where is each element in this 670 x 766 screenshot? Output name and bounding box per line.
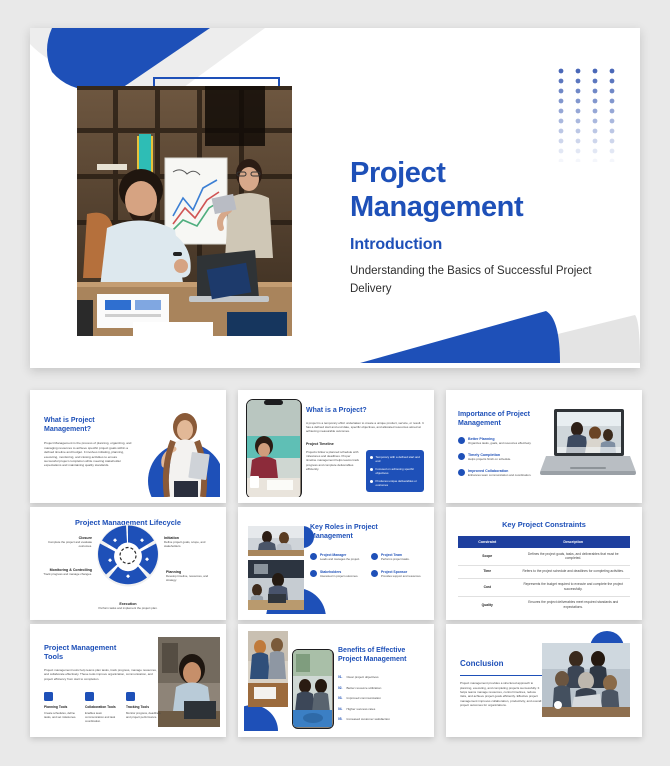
thumb4-phase-1-desc: Develop timeline, resources, and strateg… [166, 574, 218, 582]
cell-constraint: Quality [458, 596, 516, 614]
col-constraint: Constraint [458, 536, 516, 548]
slide-thumb-what-is-a-project[interactable]: What is a Project? A project is a tempor… [238, 390, 434, 503]
bullet-dot-icon [370, 456, 373, 459]
cell-description: Defines the project goals, tasks, and de… [516, 548, 630, 565]
cell-description: Represents the budget required to execut… [516, 578, 630, 596]
role-icon [371, 570, 378, 577]
thumb8-benefit-1-text: Better resource utilization [346, 686, 381, 690]
slide-thumb-lifecycle[interactable]: Project Management Lifecycle [30, 507, 226, 620]
thumb9-title: Conclusion [460, 659, 542, 669]
thumb5-role-3-desc: Provides support and resources. [381, 574, 421, 578]
check-circle-icon [458, 469, 465, 476]
thumb2-bullet-2: Produces unique deliverables or outcomes [376, 479, 420, 487]
bullet-dot-icon [370, 480, 373, 483]
lifecycle-diagram: ◆◆ ◆◆◆ [94, 522, 162, 595]
dot-grid-decoration [556, 66, 618, 167]
table-row: QualityEnsures the project deliverables … [458, 596, 630, 614]
thumb2-section-label: Project Timeline [306, 442, 424, 446]
thumb3-item-1-desc: Helps projects finish on schedule. [468, 457, 511, 461]
thumb7-tool-1-label: Collaboration Tools [85, 705, 121, 709]
thumb2-bullet-1: Focused on achieving specific objectives [376, 467, 420, 475]
bottom-blue-wedge [360, 301, 560, 368]
thumb2-bullet-0: Temporary with a defined start and end [376, 455, 420, 463]
check-circle-icon [458, 453, 465, 460]
thumb8-benefit-2-num: 03. [338, 696, 342, 700]
thumb2-title: What is a Project? [306, 407, 424, 416]
thumb1-photo [154, 409, 212, 497]
slide-thumb-what-is-project-management[interactable]: What is ProjectManagement? Project Manag… [30, 390, 226, 503]
thumb9-body: Project management provides a structured… [460, 681, 542, 707]
thumb2-phone-mockup [246, 399, 302, 497]
tracking-tools-icon [126, 692, 135, 701]
thumb2-section-body: Projects follow a planned schedule with … [306, 450, 360, 492]
thumb8-photo-left [248, 631, 288, 707]
thumb9-photo [542, 643, 630, 717]
slide-thumb-key-roles[interactable]: Key Roles in ProjectManagement Project M… [238, 507, 434, 620]
slide-thumbnail-grid: What is ProjectManagement? Project Manag… [30, 390, 642, 737]
role-icon [371, 553, 378, 560]
slide-thumb-constraints[interactable]: Key Project Constraints Constraint Descr… [446, 507, 642, 620]
thumb7-tool-2-label: Tracking Tools [126, 705, 162, 709]
hero-description: Understanding the Basics of Successful P… [350, 263, 620, 298]
collaboration-tools-icon [85, 692, 94, 701]
thumb5-role-2-desc: Interested in project outcomes. [320, 574, 358, 578]
svg-text:◆: ◆ [126, 574, 130, 580]
thumb3-item-2-desc: Enhances team communication and coordina… [468, 473, 531, 477]
thumb8-phone-mockup [292, 649, 334, 729]
table-row: ScopeDefines the project goals, tasks, a… [458, 548, 630, 565]
thumb8-benefit-0-text: Clear project objectives [346, 675, 378, 679]
thumb5-photo-top [248, 526, 304, 556]
constraints-table: Constraint Description ScopeDefines the … [458, 536, 630, 614]
thumb4-phase-4-desc: Complete the project and evaluate outcom… [40, 540, 92, 548]
thumb6-title: Key Project Constraints [458, 520, 630, 529]
cell-description: Ensures the project deliverables meet re… [516, 596, 630, 614]
hero-slide[interactable]: Project Management Introduction Understa… [30, 28, 640, 368]
cell-description: Refers to the project schedule and deadl… [516, 565, 630, 578]
slide-thumb-conclusion[interactable]: Conclusion Project management provides a… [446, 624, 642, 737]
hero-photo [77, 86, 292, 336]
thumb7-tool-2-desc: Monitor progress, deadlines, and project… [126, 711, 162, 719]
thumb5-photo-bottom [248, 560, 304, 610]
thumb5-role-0-desc: Leads and manages the project. [320, 557, 360, 561]
cell-constraint: Cost [458, 578, 516, 596]
thumb4-phase-2-desc: Perform tasks and implement the project … [97, 606, 159, 610]
thumb5-role-1-desc: Performs project tasks. [381, 557, 410, 561]
thumb1-body: Project Management is the process of pla… [44, 441, 132, 468]
col-description: Description [516, 536, 630, 548]
thumb8-benefit-4-num: 05. [338, 717, 342, 721]
conclusion-underline [460, 675, 542, 677]
planning-tools-icon [44, 692, 53, 701]
cell-constraint: Scope [458, 548, 516, 565]
svg-text:◆: ◆ [145, 557, 149, 563]
thumb8-benefit-0-num: 01. [338, 675, 342, 679]
thumb3-laptop-mockup [540, 409, 636, 481]
hero-subtitle: Introduction [350, 236, 620, 254]
svg-text:◆: ◆ [140, 538, 144, 544]
thumb2-body: A project is a temporary effort undertak… [306, 421, 424, 434]
thumb8-benefit-3-text: Higher success rates [346, 707, 375, 711]
role-icon [310, 570, 317, 577]
thumb3-item-0-desc: Organizes tasks, goals, and resources ef… [468, 441, 531, 445]
cell-constraint: Time [458, 565, 516, 578]
thumb1-title: What is ProjectManagement? [44, 417, 132, 434]
hero-title-line2: Management [350, 190, 620, 224]
thumb4-phase-0-desc: Define project goals, scope, and stakeho… [164, 540, 216, 548]
hero-text-block: Project Management Introduction Understa… [350, 156, 620, 298]
thumb7-title: Project ManagementTools [44, 643, 162, 661]
svg-text:◆: ◆ [113, 538, 117, 544]
thumb5-title: Key Roles in ProjectManagement [310, 524, 426, 541]
thumb7-photo [158, 637, 220, 727]
bottom-gray-wedge [440, 301, 640, 368]
thumb7-body: Project management tools help teams plan… [44, 668, 162, 681]
thumb7-tool-1-desc: Enables team communication and task coor… [85, 711, 121, 723]
thumb3-title: Importance of ProjectManagement [458, 411, 542, 428]
thumb8-benefit-4-text: Increased customer satisfaction [346, 717, 390, 721]
table-row: CostRepresents the budget required to ex… [458, 578, 630, 596]
thumb4-phase-3-desc: Track progress and manage changes. [36, 572, 92, 576]
table-row: TimeRefers to the project schedule and d… [458, 565, 630, 578]
bullet-dot-icon [370, 468, 373, 471]
thumb8-benefit-3-num: 04. [338, 707, 342, 711]
svg-text:◆: ◆ [108, 558, 112, 564]
role-icon [310, 553, 317, 560]
thumb8-benefit-1-num: 02. [338, 686, 342, 690]
presentation-preview-page: Project Management Introduction Understa… [0, 0, 670, 766]
slide-thumb-benefits[interactable]: Benefits of EffectiveProject Management … [238, 624, 434, 737]
thumb8-benefit-2-text: Improved communication [346, 696, 381, 700]
check-circle-icon [458, 437, 465, 444]
slide-thumb-tools[interactable]: Project ManagementTools Project manageme… [30, 624, 226, 737]
thumb7-tool-0-desc: Create schedules, define tasks, and set … [44, 711, 80, 719]
thumb7-tool-0-label: Planning Tools [44, 705, 80, 709]
slide-thumb-importance[interactable]: Importance of ProjectManagement Better P… [446, 390, 642, 503]
thumb8-title: Benefits of EffectiveProject Management [338, 647, 424, 664]
